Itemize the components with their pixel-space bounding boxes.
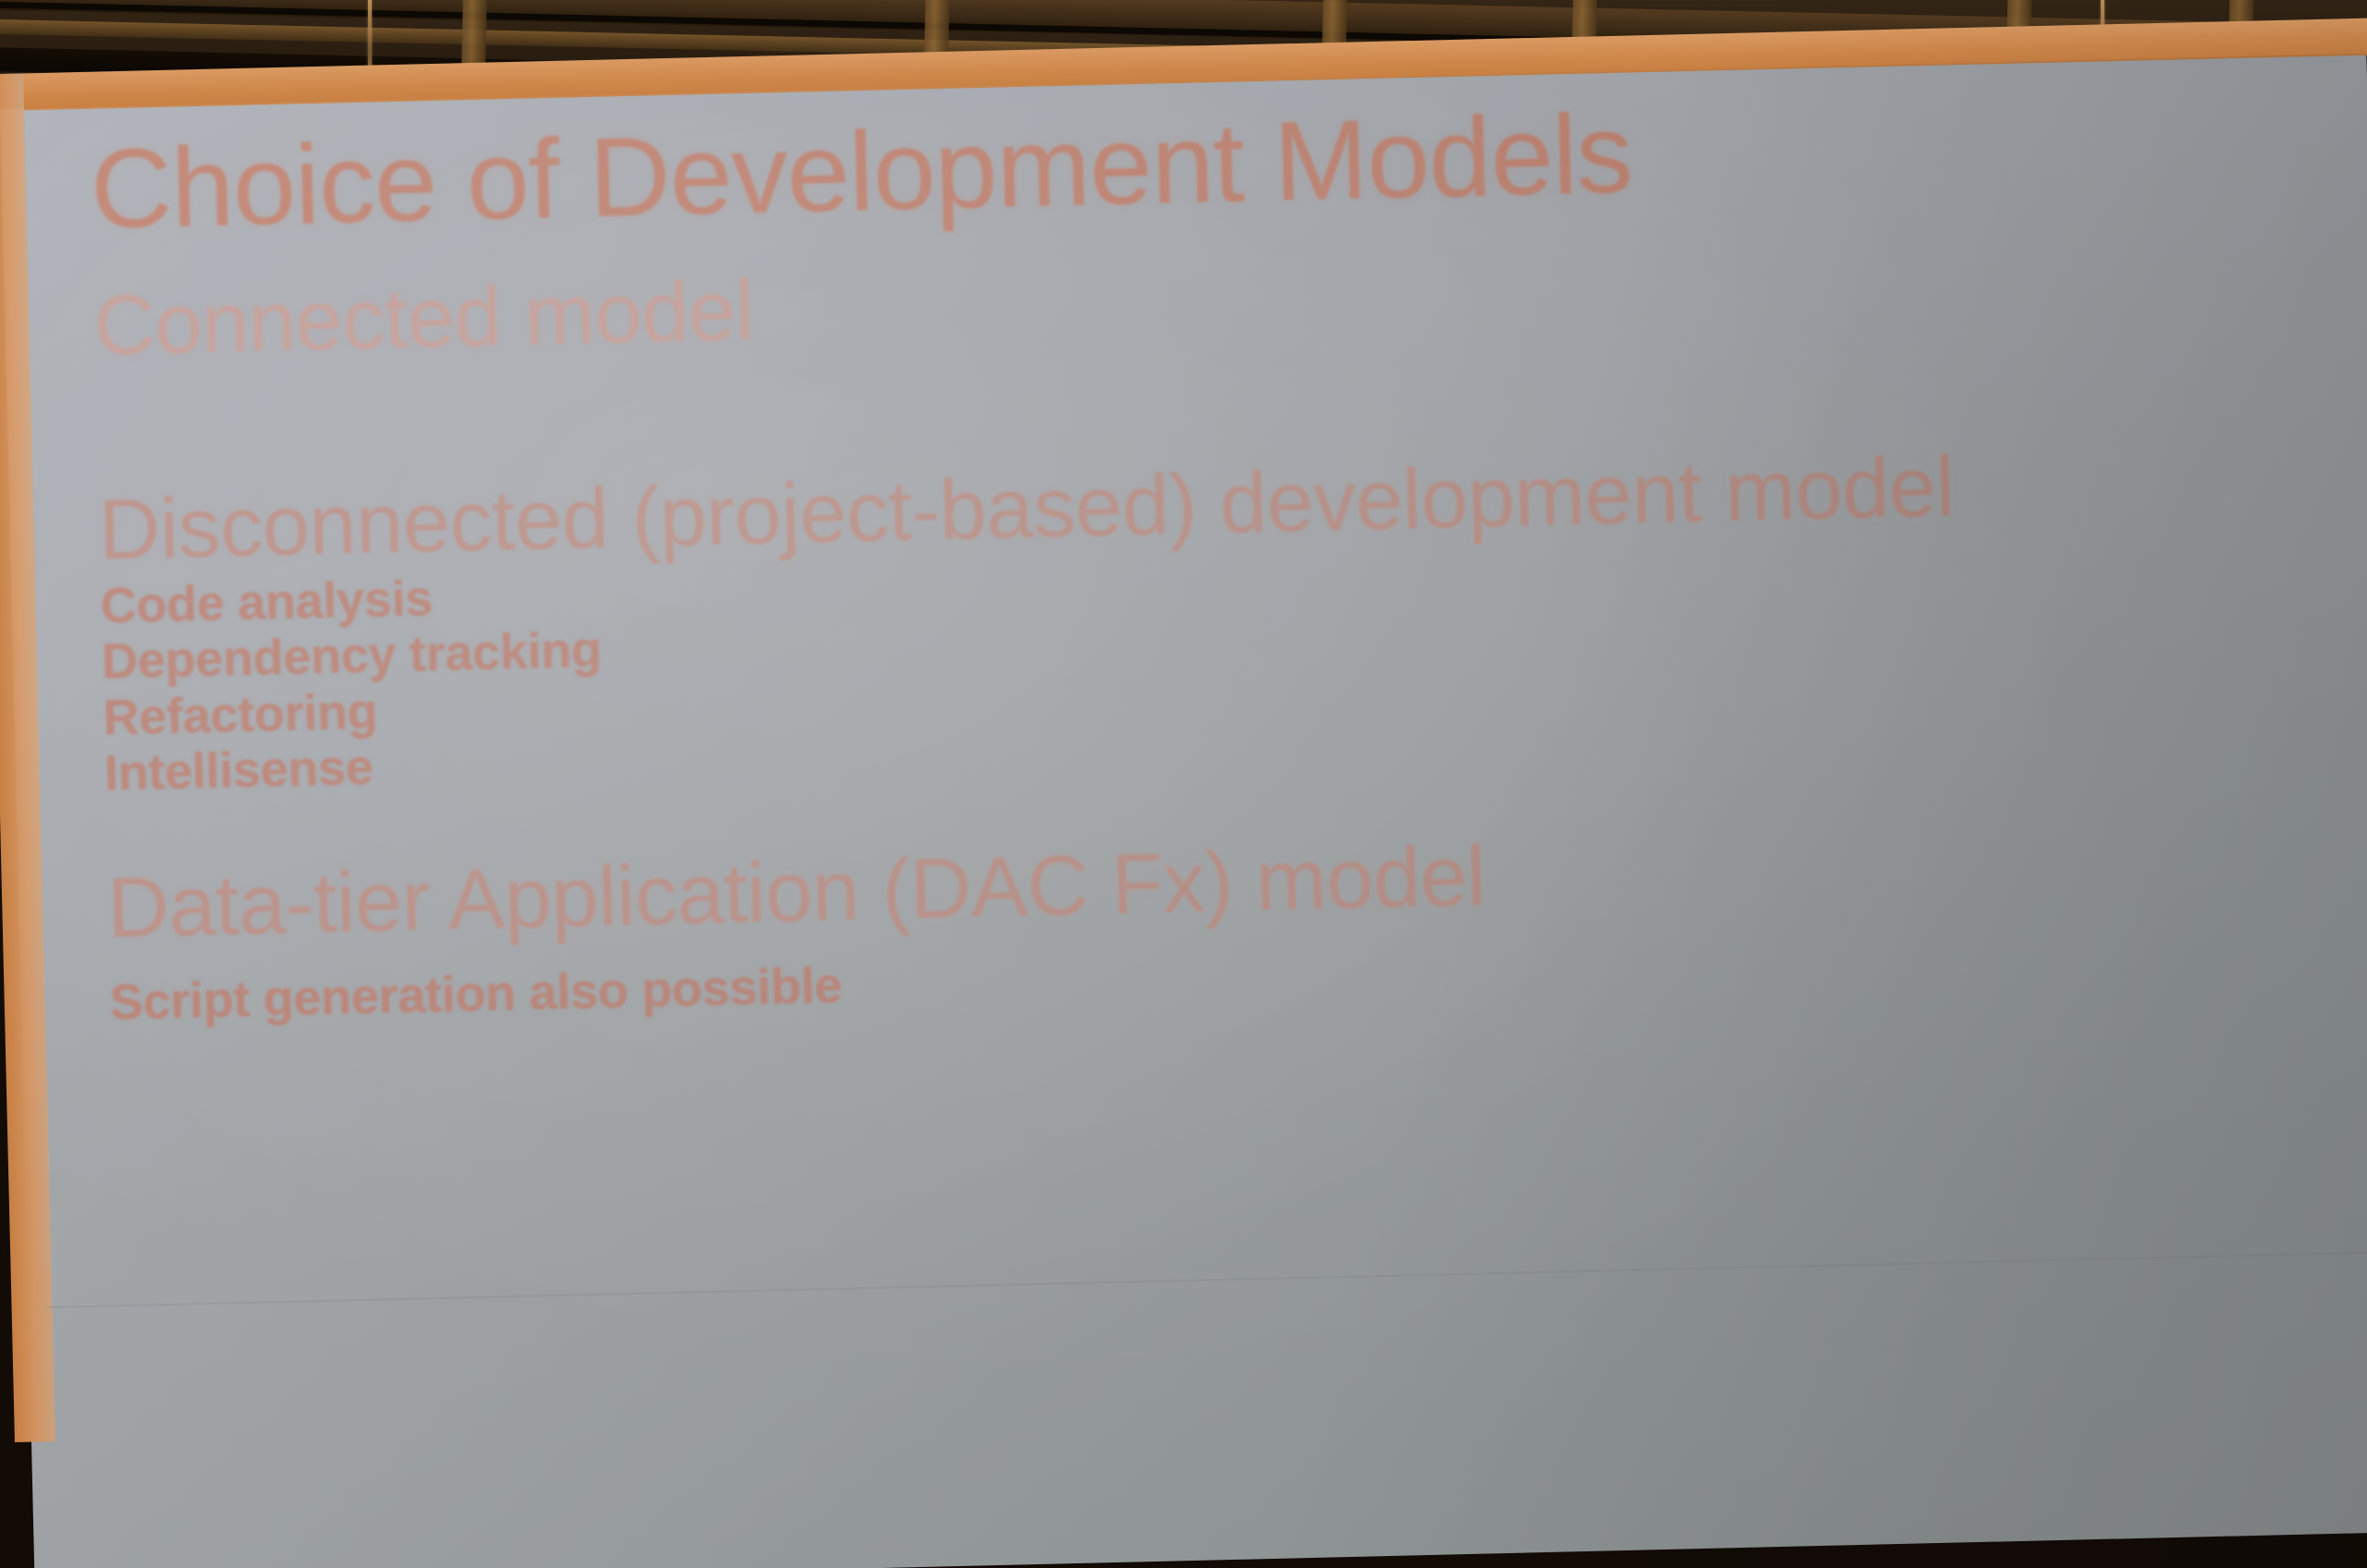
slide-content: Choice of Development Models Connected m… [90, 77, 2348, 1031]
slide-accent-left-border [0, 73, 55, 1442]
slide-bottom-edge-line [47, 1250, 2367, 1308]
projection-screen: Choice of Development Models Connected m… [0, 54, 2367, 1568]
screenshot-root: Choice of Development Models Connected m… [0, 0, 2367, 1568]
